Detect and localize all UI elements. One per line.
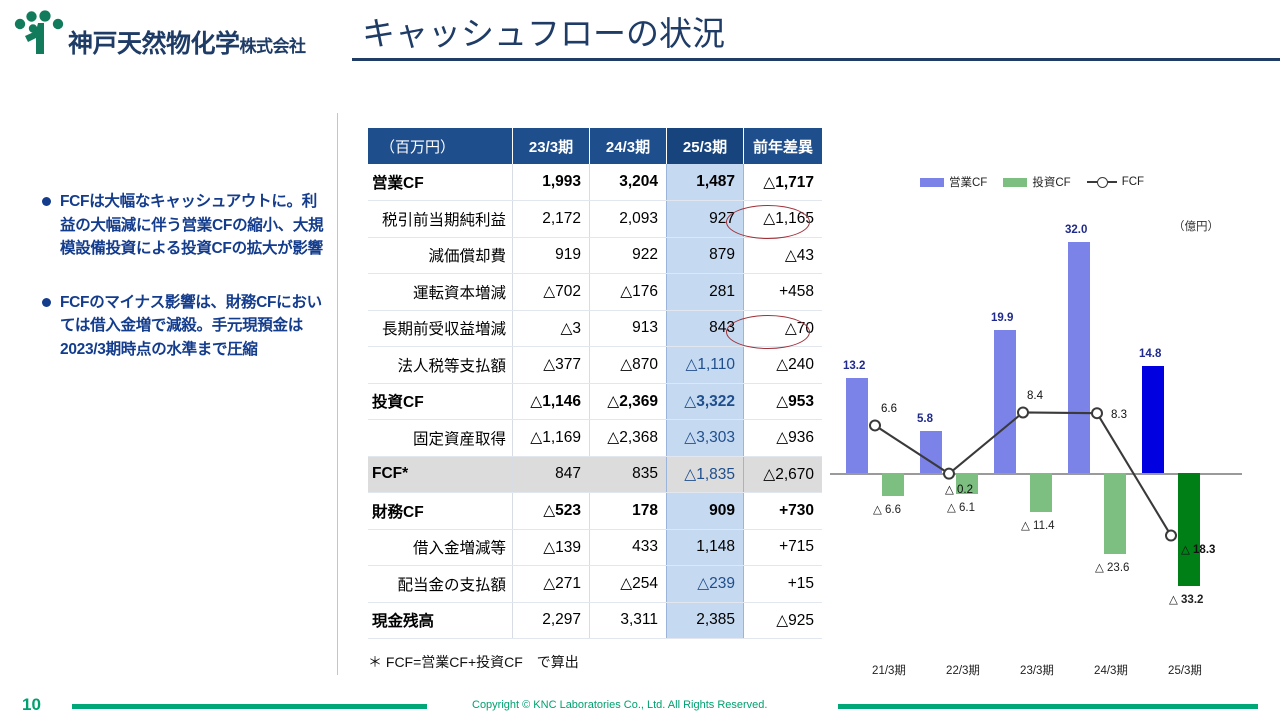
table-cell: △1,717 — [744, 164, 823, 201]
table-cell: △936 — [744, 420, 823, 457]
legend-item-operating: 営業CF — [920, 174, 987, 190]
fcf-data-point — [1166, 531, 1176, 541]
company-name: 神戸天然物化学株式会社 — [68, 24, 306, 60]
table-row-label: 営業CF — [368, 164, 513, 201]
table-cell: △523 — [513, 493, 590, 530]
table-cell: △702 — [513, 274, 590, 311]
table-cell: 922 — [590, 237, 667, 274]
table-cell: 3,204 — [590, 164, 667, 201]
table-cell: △70 — [744, 310, 823, 347]
legend-label-investing: 投資CF — [1032, 174, 1070, 190]
data-label-investing-cf: △ 11.4 — [1021, 518, 1055, 532]
table-row: 借入金増減等△1394331,148+715 — [368, 529, 822, 566]
table-row-label: 配当金の支払額 — [368, 566, 513, 603]
table-cell: △176 — [590, 274, 667, 311]
fcf-data-point — [870, 420, 880, 430]
data-label-investing-cf: △ 23.6 — [1095, 560, 1129, 574]
vertical-divider — [337, 113, 338, 675]
data-label-fcf: △ 0.2 — [945, 482, 973, 496]
copyright-text: Copyright © KNC Laboratories Co., Ltd. A… — [472, 699, 767, 711]
table-row: 長期前受収益増減△3913843△70 — [368, 310, 822, 347]
data-label-fcf: 8.3 — [1111, 409, 1127, 421]
data-label-operating-cf: 19.9 — [991, 312, 1013, 324]
table-row: 法人税等支払額△377△870△1,110△240 — [368, 347, 822, 384]
slide-footer: 10 Copyright © KNC Laboratories Co., Ltd… — [0, 695, 1280, 720]
table-row-label: 借入金増減等 — [368, 529, 513, 566]
table-cell: 913 — [590, 310, 667, 347]
table-cell: 927 — [667, 201, 744, 238]
data-label-operating-cf: 5.8 — [917, 413, 933, 425]
table-row-label: 現金残高 — [368, 602, 513, 639]
table-row: 現金残高2,2973,3112,385△925 — [368, 602, 822, 639]
table-cell: 879 — [667, 237, 744, 274]
table-cell: +458 — [744, 274, 823, 311]
data-label-investing-cf: △ 6.1 — [947, 500, 975, 514]
table-row: 税引前当期純利益2,1722,093927△1,165 — [368, 201, 822, 238]
table-cell: 909 — [667, 493, 744, 530]
company-name-suffix: 株式会社 — [240, 37, 306, 56]
x-axis-label: 22/3期 — [928, 662, 998, 678]
table-cell: 847 — [513, 456, 590, 493]
table-cell: 835 — [590, 456, 667, 493]
table-row-label: 法人税等支払額 — [368, 347, 513, 384]
table-cell: 1,993 — [513, 164, 590, 201]
footer-rule-right — [838, 704, 1258, 709]
table-footnote: ＊ FCF=営業CF+投資CF で算出 — [368, 652, 579, 672]
table-cell: △3,322 — [667, 383, 744, 420]
key-points-list: FCFは大幅なキャッシュアウトに。利益の大幅減に伴う営業CFの縮小、大規模設備投… — [42, 190, 327, 391]
table-cell: △3,303 — [667, 420, 744, 457]
data-label-investing-cf: △ 33.2 — [1169, 592, 1203, 606]
table-cell: △254 — [590, 566, 667, 603]
table-cell: △1,110 — [667, 347, 744, 384]
table-cell: 919 — [513, 237, 590, 274]
table-cell: 843 — [667, 310, 744, 347]
table-row-label: FCF* — [368, 456, 513, 493]
table-cell: △1,169 — [513, 420, 590, 457]
table-cell: △2,368 — [590, 420, 667, 457]
table-header-fy25: 25/3期 — [667, 128, 744, 164]
table-cell: +15 — [744, 566, 823, 603]
legend-line-fcf — [1087, 177, 1117, 187]
fcf-data-point — [1018, 407, 1028, 417]
data-label-fcf: 8.4 — [1027, 390, 1043, 402]
table-cell: △1,835 — [667, 456, 744, 493]
legend-item-investing: 投資CF — [1003, 174, 1070, 190]
legend-item-fcf: FCF — [1087, 176, 1144, 188]
tree-logo-icon — [10, 8, 68, 56]
table-header-row: （百万円） 23/3期 24/3期 25/3期 前年差異 — [368, 128, 822, 164]
bullet-text: FCFのマイナス影響は、財務CFにおいては借入金増で減殺。手元現預金は2023/… — [60, 291, 327, 362]
table-cell: △2,670 — [744, 456, 823, 493]
chart-x-axis-labels: 21/3期22/3期23/3期24/3期25/3期 — [828, 662, 1268, 682]
table-row-label: 長期前受収益増減 — [368, 310, 513, 347]
table-row: FCF*847835△1,835△2,670 — [368, 456, 822, 493]
data-label-operating-cf: 14.8 — [1139, 348, 1161, 360]
x-axis-label: 25/3期 — [1150, 662, 1220, 678]
table-row-label: 財務CF — [368, 493, 513, 530]
table-header-yoy: 前年差異 — [744, 128, 823, 164]
table-cell: △43 — [744, 237, 823, 274]
table-cell: 1,487 — [667, 164, 744, 201]
list-item: FCFは大幅なキャッシュアウトに。利益の大幅減に伴う営業CFの縮小、大規模設備投… — [42, 190, 327, 261]
slide-header: 神戸天然物化学株式会社 キャッシュフローの状況 — [0, 0, 1280, 78]
table-cell: +715 — [744, 529, 823, 566]
cashflow-chart: 営業CF 投資CF FCF （億円） 13.2△ 6.65.8△ 6.119.9… — [828, 168, 1268, 638]
table-cell: △870 — [590, 347, 667, 384]
table-row: 営業CF1,9933,2041,487△1,717 — [368, 164, 822, 201]
table-row: 投資CF△1,146△2,369△3,322△953 — [368, 383, 822, 420]
legend-swatch-operating — [920, 178, 944, 187]
legend-swatch-investing — [1003, 178, 1027, 187]
table-cell: △239 — [667, 566, 744, 603]
table-header-fy23: 23/3期 — [513, 128, 590, 164]
table-cell: △2,369 — [590, 383, 667, 420]
data-label-fcf: 6.6 — [881, 403, 897, 415]
bullet-dot-icon — [42, 298, 51, 307]
legend-label-operating: 営業CF — [949, 174, 987, 190]
table-row-label: 投資CF — [368, 383, 513, 420]
table-cell: △271 — [513, 566, 590, 603]
list-item: FCFのマイナス影響は、財務CFにおいては借入金増で減殺。手元現預金は2023/… — [42, 291, 327, 362]
table-cell: 178 — [590, 493, 667, 530]
table-cell: △377 — [513, 347, 590, 384]
table-row: 財務CF△523178909+730 — [368, 493, 822, 530]
table-header-fy24: 24/3期 — [590, 128, 667, 164]
cashflow-table: （百万円） 23/3期 24/3期 25/3期 前年差異 営業CF1,9933,… — [368, 128, 822, 639]
page-title: キャッシュフローの状況 — [362, 7, 725, 55]
table-row: 固定資産取得△1,169△2,368△3,303△936 — [368, 420, 822, 457]
table-row-label: 減価償却費 — [368, 237, 513, 274]
table-cell: +730 — [744, 493, 823, 530]
table-cell: △139 — [513, 529, 590, 566]
fcf-data-point — [944, 469, 954, 479]
chart-plot-area: 13.2△ 6.65.8△ 6.119.9△ 11.432.0△ 23.614.… — [828, 228, 1268, 598]
table-cell: 2,297 — [513, 602, 590, 639]
x-axis-label: 24/3期 — [1076, 662, 1146, 678]
bullet-text: FCFは大幅なキャッシュアウトに。利益の大幅減に伴う営業CFの縮小、大規模設備投… — [60, 190, 327, 261]
table-cell: △3 — [513, 310, 590, 347]
table-cell: 3,311 — [590, 602, 667, 639]
bullet-dot-icon — [42, 197, 51, 206]
data-label-operating-cf: 13.2 — [843, 360, 865, 372]
fcf-data-point — [1092, 408, 1102, 418]
table-cell: △240 — [744, 347, 823, 384]
data-label-investing-cf: △ 6.6 — [873, 502, 901, 516]
data-label-operating-cf: 32.0 — [1065, 224, 1087, 236]
table-cell: 281 — [667, 274, 744, 311]
legend-label-fcf: FCF — [1122, 176, 1144, 188]
table-row-label: 運転資本増減 — [368, 274, 513, 311]
table-row-label: 税引前当期純利益 — [368, 201, 513, 238]
table-cell: △925 — [744, 602, 823, 639]
chart-legend: 営業CF 投資CF FCF — [920, 174, 1160, 190]
table-cell: 2,385 — [667, 602, 744, 639]
page-number: 10 — [22, 695, 41, 715]
title-underline — [352, 58, 1280, 61]
footer-rule-left — [72, 704, 427, 709]
table-cell: △1,165 — [744, 201, 823, 238]
table-header-label: （百万円） — [368, 128, 513, 164]
table-row-label: 固定資産取得 — [368, 420, 513, 457]
company-name-main: 神戸天然物化学 — [68, 30, 240, 58]
table-body: 営業CF1,9933,2041,487△1,717税引前当期純利益2,1722,… — [368, 164, 822, 639]
table-cell: 433 — [590, 529, 667, 566]
table-cell: 1,148 — [667, 529, 744, 566]
table-cell: 2,093 — [590, 201, 667, 238]
table-cell: △953 — [744, 383, 823, 420]
table-row: 運転資本増減△702△176281+458 — [368, 274, 822, 311]
x-axis-label: 23/3期 — [1002, 662, 1072, 678]
table-cell: 2,172 — [513, 201, 590, 238]
data-label-fcf: △ 18.3 — [1181, 542, 1215, 556]
table-row: 配当金の支払額△271△254△239+15 — [368, 566, 822, 603]
x-axis-label: 21/3期 — [854, 662, 924, 678]
table-cell: △1,146 — [513, 383, 590, 420]
table-row: 減価償却費919922879△43 — [368, 237, 822, 274]
